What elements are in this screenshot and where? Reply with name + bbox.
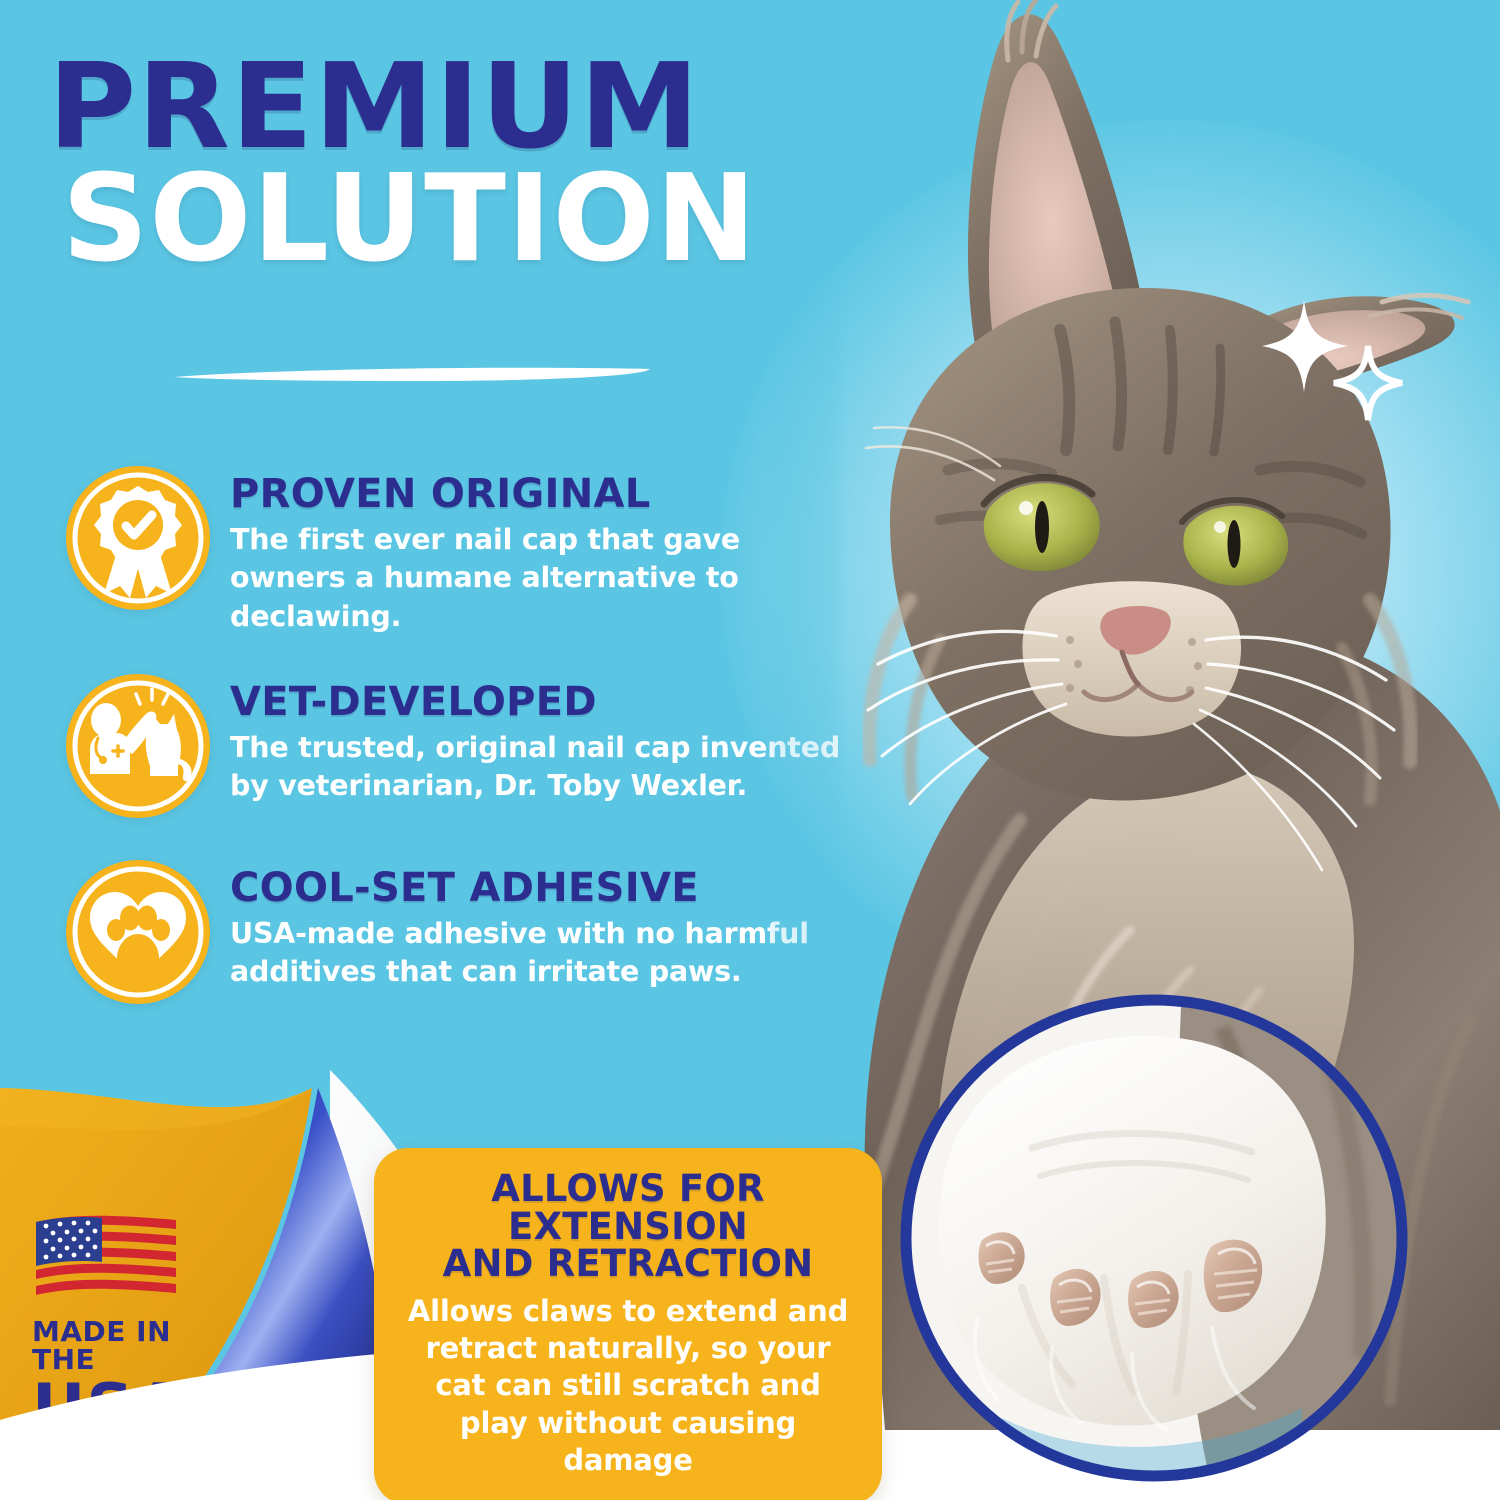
vet-highfive-cat-icon (62, 670, 214, 822)
feature-list: PROVEN ORIGINAL The first ever nail cap … (62, 462, 862, 1042)
sparkle-stars-icon (1262, 296, 1412, 424)
callout-text: Allows claws to extend and retract natur… (400, 1293, 856, 1479)
feature-title: COOL-SET ADHESIVE (230, 868, 862, 909)
feature-item-cool-set-adhesive: COOL-SET ADHESIVE USA-made adhesive with… (62, 856, 862, 1008)
usa-label: USA (32, 1376, 244, 1438)
extension-retraction-callout: ALLOWS FOR EXTENSION AND RETRACTION Allo… (374, 1148, 882, 1500)
callout-title: ALLOWS FOR EXTENSION AND RETRACTION (400, 1170, 856, 1283)
usa-flag-icon (32, 1212, 180, 1304)
feature-title: PROVEN ORIGINAL (230, 474, 862, 515)
feature-text: USA-made adhesive with no harmful additi… (230, 915, 862, 992)
heart-paw-icon (62, 856, 214, 1008)
feature-text: The first ever nail cap that gave owners… (230, 521, 862, 636)
award-ribbon-icon (62, 462, 214, 614)
made-in-the-label: MADE IN THE (32, 1318, 232, 1374)
product-infographic-poster: PREMIUM SOLUTION PROVEN ORIGINAL The fir… (0, 0, 1500, 1500)
headline-block: PREMIUM SOLUTION (48, 52, 858, 275)
headline-line-1: PREMIUM (48, 52, 874, 161)
headline-line-2: SOLUTION (62, 165, 858, 275)
feature-body: VET-DEVELOPED The trusted, original nail… (230, 670, 862, 806)
paw-inset-photo (882, 988, 1442, 1488)
callout-title-line-2: AND RETRACTION (400, 1245, 856, 1283)
callout-title-line-1: ALLOWS FOR EXTENSION (400, 1170, 856, 1245)
feature-text: The trusted, original nail cap invented … (230, 729, 862, 806)
feature-title: VET-DEVELOPED (230, 682, 862, 723)
feature-item-proven-original: PROVEN ORIGINAL The first ever nail cap … (62, 462, 862, 636)
feature-body: PROVEN ORIGINAL The first ever nail cap … (230, 462, 862, 636)
feature-body: COOL-SET ADHESIVE USA-made adhesive with… (230, 856, 862, 992)
made-in-usa-badge: MADE IN THE USA (32, 1212, 232, 1438)
swoosh-divider-icon (172, 366, 652, 382)
feature-item-vet-developed: VET-DEVELOPED The trusted, original nail… (62, 670, 862, 822)
